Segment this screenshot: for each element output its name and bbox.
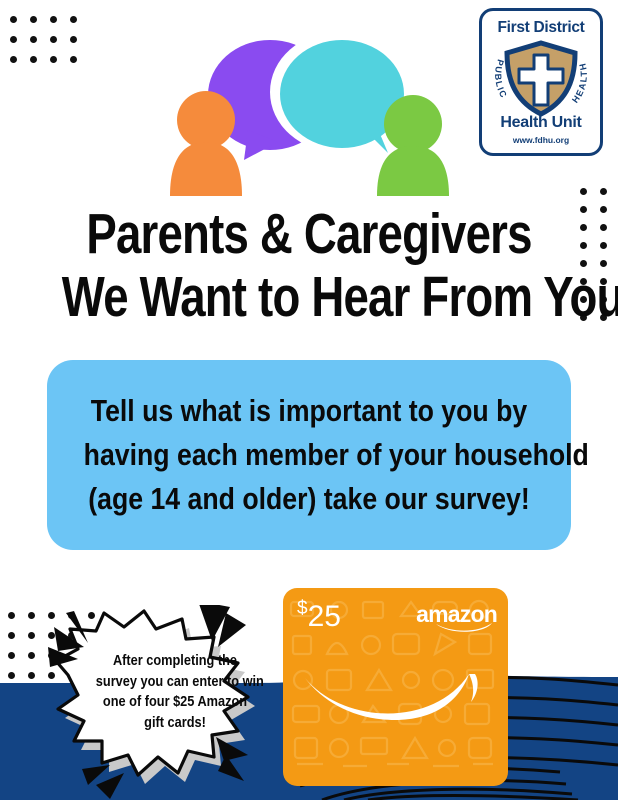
amount-value: 25 bbox=[308, 600, 341, 633]
people-talking-illustration bbox=[160, 10, 460, 200]
page-title: Parents & Caregivers We Want to Hear Fro… bbox=[0, 206, 618, 326]
callout-line-2: survey you can enter to win bbox=[96, 672, 254, 693]
person-silhouette-orange-icon bbox=[170, 91, 242, 196]
headline-line-2: We Want to Hear From You! bbox=[62, 269, 556, 326]
amazon-gift-card: $25 amazon bbox=[283, 588, 508, 786]
dot-grid-top-left-icon bbox=[10, 16, 90, 76]
gift-card-amount: $25 bbox=[297, 598, 341, 634]
message-line-2: having each member of your household bbox=[84, 433, 535, 477]
headline-line-1: Parents & Caregivers bbox=[62, 206, 556, 263]
callout-text: After completing the survey you can ente… bbox=[85, 651, 265, 733]
message-line-1: Tell us what is important to you by bbox=[84, 389, 535, 433]
logo-top-text: First District bbox=[482, 19, 600, 37]
shield-crest-icon: PUBLIC HEALTH bbox=[489, 39, 593, 117]
currency-symbol: $ bbox=[297, 598, 308, 619]
organization-logo: First District PUBLIC HEALTH Health Unit… bbox=[479, 8, 603, 156]
message-line-3: (age 14 and older) take our survey! bbox=[84, 477, 535, 521]
callout-line-3: one of four $25 Amazon bbox=[96, 692, 254, 713]
amazon-smile-icon bbox=[283, 648, 508, 743]
person-silhouette-green-icon bbox=[377, 95, 449, 196]
message-callout-box: Tell us what is important to you by havi… bbox=[47, 360, 571, 550]
logo-url-text: www.fdhu.org bbox=[482, 135, 600, 145]
poster-canvas: First District PUBLIC HEALTH Health Unit… bbox=[0, 0, 618, 800]
callout-line-1: After completing the bbox=[96, 651, 254, 672]
logo-bottom-text: Health Unit bbox=[482, 114, 600, 132]
amazon-brand-swoosh-icon bbox=[434, 621, 496, 635]
callout-line-4: gift cards! bbox=[96, 713, 254, 734]
